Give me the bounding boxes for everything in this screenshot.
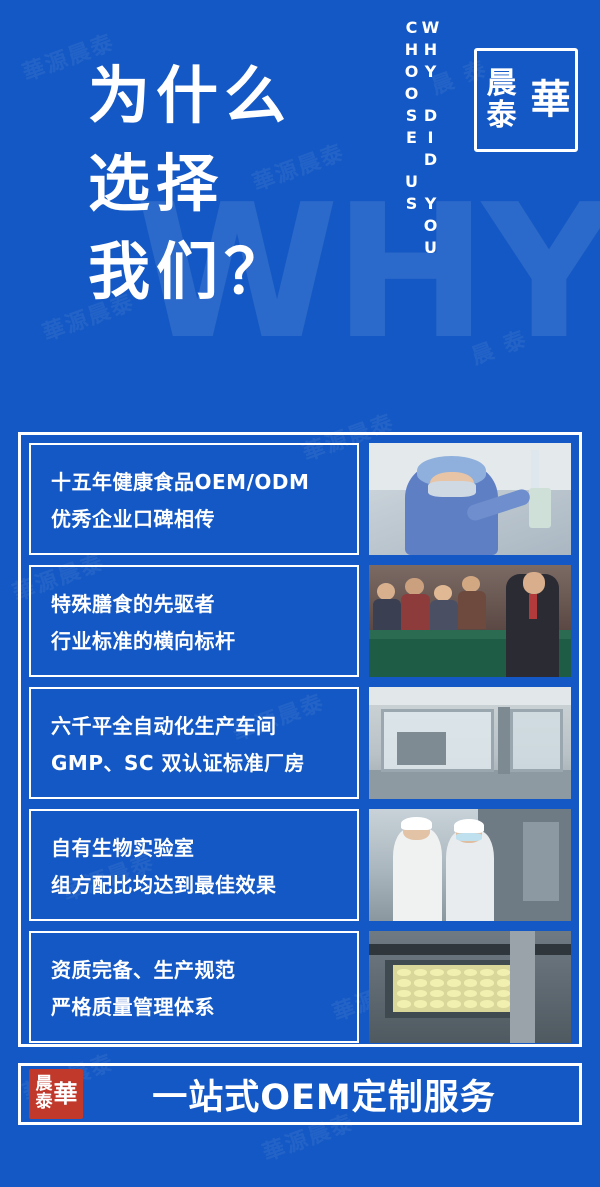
conference-audience-photo	[369, 565, 571, 677]
feature-row: 十五年健康食品OEM/ODM 优秀企业口碑相传	[29, 443, 571, 555]
feature-row: 自有生物实验室 组方配比均达到最佳效果	[29, 809, 571, 921]
poster-root: 華源晨泰 華源晨泰 華源晨泰 華源晨泰 華源晨泰 華源晨泰 華源晨泰 華源晨泰 …	[0, 0, 600, 1187]
feature-line: 组方配比均达到最佳效果	[51, 869, 337, 898]
bottom-banner: 晨 泰 華 一站式OEM定制服务	[18, 1063, 582, 1125]
feature-line: 优秀企业口碑相传	[51, 503, 337, 532]
page-title: 为什么 选择 我们？	[88, 52, 292, 316]
feature-row: 资质完备、生产规范 严格质量管理体系	[29, 931, 571, 1043]
feature-row: 六千平全自动化生产车间 GMP、SC 双认证标准厂房	[29, 687, 571, 799]
feature-textbox: 特殊膳食的先驱者 行业标准的横向标杆	[29, 565, 359, 677]
banner-slogan: 一站式OEM定制服务	[83, 1069, 579, 1120]
brand-seal-char-hua: 華	[531, 80, 571, 120]
brand-seal-left: 晨 泰	[477, 51, 526, 149]
feature-row: 特殊膳食的先驱者 行业标准的横向标杆	[29, 565, 571, 677]
headline-line-1: 为什么	[88, 52, 292, 140]
brand-seal-char-tai: 泰	[487, 101, 517, 131]
feature-textbox: 资质完备、生产规范 严格质量管理体系	[29, 931, 359, 1043]
feature-line: 自有生物实验室	[51, 832, 337, 861]
vertical-english-caption: WHY DID YOU CHOOSE US	[406, 18, 440, 398]
feature-line: 六千平全自动化生产车间	[51, 710, 337, 739]
feature-textbox: 十五年健康食品OEM/ODM 优秀企业口碑相传	[29, 443, 359, 555]
brand-seal-logo: 晨 泰 華	[474, 48, 578, 152]
blister-packing-photo	[369, 931, 571, 1043]
feature-line: 十五年健康食品OEM/ODM	[51, 466, 337, 495]
feature-line: 行业标准的横向标杆	[51, 625, 337, 654]
feature-line: 资质完备、生产规范	[51, 954, 337, 983]
feature-line: GMP、SC 双认证标准厂房	[51, 747, 337, 776]
features-panel: 十五年健康食品OEM/ODM 优秀企业口碑相传 特殊膳食的先驱者 行业标准的横向…	[18, 432, 582, 1047]
banner-seal-char-hua: 華	[54, 1082, 77, 1106]
lab-worker-photo	[369, 443, 571, 555]
feature-line: 特殊膳食的先驱者	[51, 588, 337, 617]
headline-line-3: 我们？	[88, 228, 292, 316]
lab-technicians-photo	[369, 809, 571, 921]
brand-seal-right: 華	[526, 51, 575, 149]
feature-textbox: 六千平全自动化生产车间 GMP、SC 双认证标准厂房	[29, 687, 359, 799]
feature-textbox: 自有生物实验室 组方配比均达到最佳效果	[29, 809, 359, 921]
brand-seal-char-chen: 晨	[487, 69, 517, 99]
banner-seal-char-tai: 泰	[36, 1094, 52, 1112]
banner-seal-logo: 晨 泰 華	[29, 1069, 83, 1119]
cleanroom-corridor-photo	[369, 687, 571, 799]
feature-line: 严格质量管理体系	[51, 991, 337, 1020]
headline-line-2: 选择	[88, 140, 292, 228]
